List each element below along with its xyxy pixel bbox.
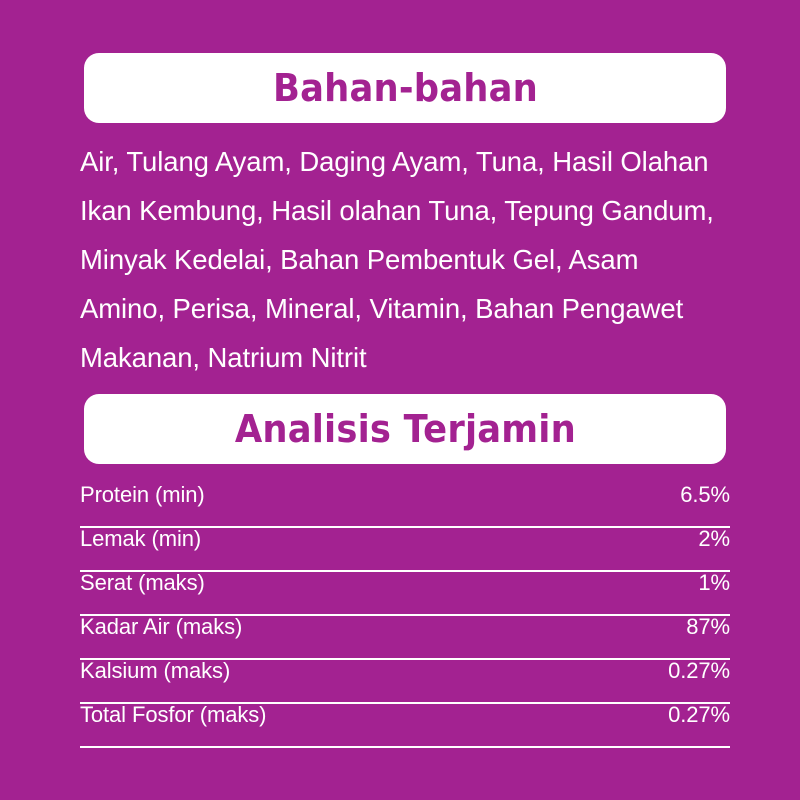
analysis-value: 87% <box>686 616 730 642</box>
guaranteed-analysis-table: Protein (min) 6.5% Lemak (min) 2% Serat … <box>80 484 730 748</box>
analysis-label: Total Fosfor (maks) <box>80 704 266 730</box>
analysis-label: Serat (maks) <box>80 572 205 598</box>
analysis-label: Kadar Air (maks) <box>80 616 242 642</box>
ingredients-line: Ikan Kembung, Hasil olahan Tuna, Tepung … <box>80 186 740 235</box>
analysis-value: 0.27% <box>668 704 730 730</box>
table-row: Protein (min) 6.5% <box>80 484 730 528</box>
analysis-heading-text: Analisis Terjamin <box>234 410 575 448</box>
table-row: Kalsium (maks) 0.27% <box>80 660 730 704</box>
table-row: Serat (maks) 1% <box>80 572 730 616</box>
analysis-value: 1% <box>698 572 730 598</box>
analysis-value: 6.5% <box>680 484 730 510</box>
analysis-label: Kalsium (maks) <box>80 660 230 686</box>
product-label-panel: Bahan-bahan Air, Tulang Ayam, Daging Aya… <box>0 0 800 800</box>
analysis-heading-card: Analisis Terjamin <box>84 394 726 464</box>
analysis-value: 0.27% <box>668 660 730 686</box>
analysis-value: 2% <box>698 528 730 554</box>
table-row: Total Fosfor (maks) 0.27% <box>80 704 730 748</box>
table-row: Kadar Air (maks) 87% <box>80 616 730 660</box>
ingredients-line: Air, Tulang Ayam, Daging Ayam, Tuna, Has… <box>80 137 740 186</box>
ingredients-line: Amino, Perisa, Mineral, Vitamin, Bahan P… <box>80 284 740 333</box>
ingredients-line: Minyak Kedelai, Bahan Pembentuk Gel, Asa… <box>80 235 740 284</box>
ingredients-text-block: Air, Tulang Ayam, Daging Ayam, Tuna, Has… <box>80 137 740 382</box>
analysis-label: Protein (min) <box>80 484 205 510</box>
ingredients-heading-text: Bahan-bahan <box>273 69 538 107</box>
ingredients-line: Makanan, Natrium Nitrit <box>80 333 740 382</box>
analysis-label: Lemak (min) <box>80 528 201 554</box>
table-row: Lemak (min) 2% <box>80 528 730 572</box>
ingredients-heading-card: Bahan-bahan <box>84 53 726 123</box>
